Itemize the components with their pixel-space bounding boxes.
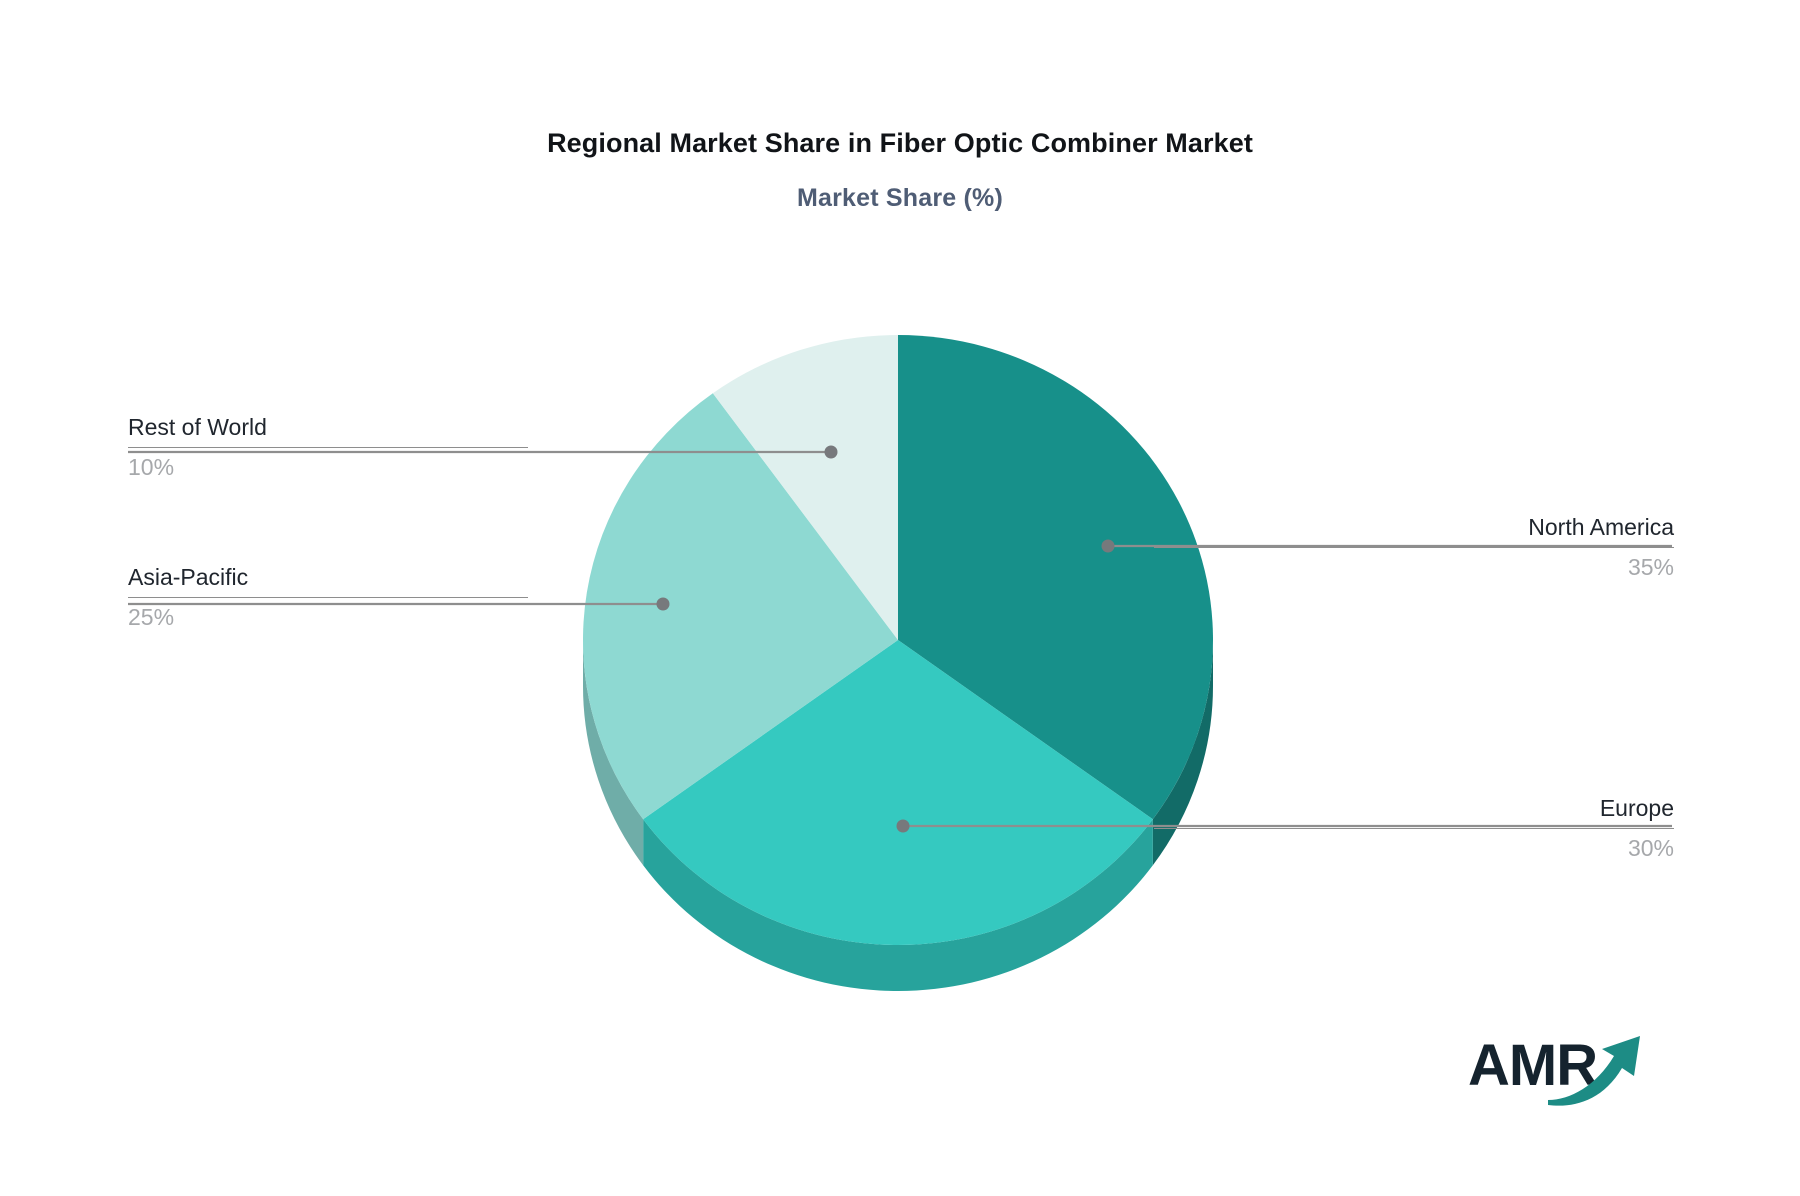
callout-divider [128, 447, 528, 448]
callout-value-rest-of-world: 10% [128, 452, 528, 482]
callout-label-rest-of-world: Rest of World [128, 412, 528, 442]
callout-asia-pacific: Asia-Pacific 25% [128, 562, 528, 632]
callout-rest-of-world: Rest of World 10% [128, 412, 528, 482]
callout-europe: Europe 30% [1154, 793, 1674, 863]
callout-divider [1154, 828, 1674, 829]
callout-value-europe: 30% [1154, 833, 1674, 863]
growth-arrow-icon [1544, 1030, 1648, 1106]
callout-value-north-america: 35% [1154, 552, 1674, 582]
pie-top-face [583, 335, 1213, 945]
callout-divider [1154, 547, 1674, 548]
amr-logo: AMR [1468, 1022, 1648, 1112]
chart-canvas: Regional Market Share in Fiber Optic Com… [0, 0, 1800, 1196]
callout-value-asia-pacific: 25% [128, 602, 528, 632]
callout-label-europe: Europe [1154, 793, 1674, 823]
callout-label-north-america: North America [1154, 512, 1674, 542]
callout-divider [128, 597, 528, 598]
callout-north-america: North America 35% [1154, 512, 1674, 582]
callout-label-asia-pacific: Asia-Pacific [128, 562, 528, 592]
